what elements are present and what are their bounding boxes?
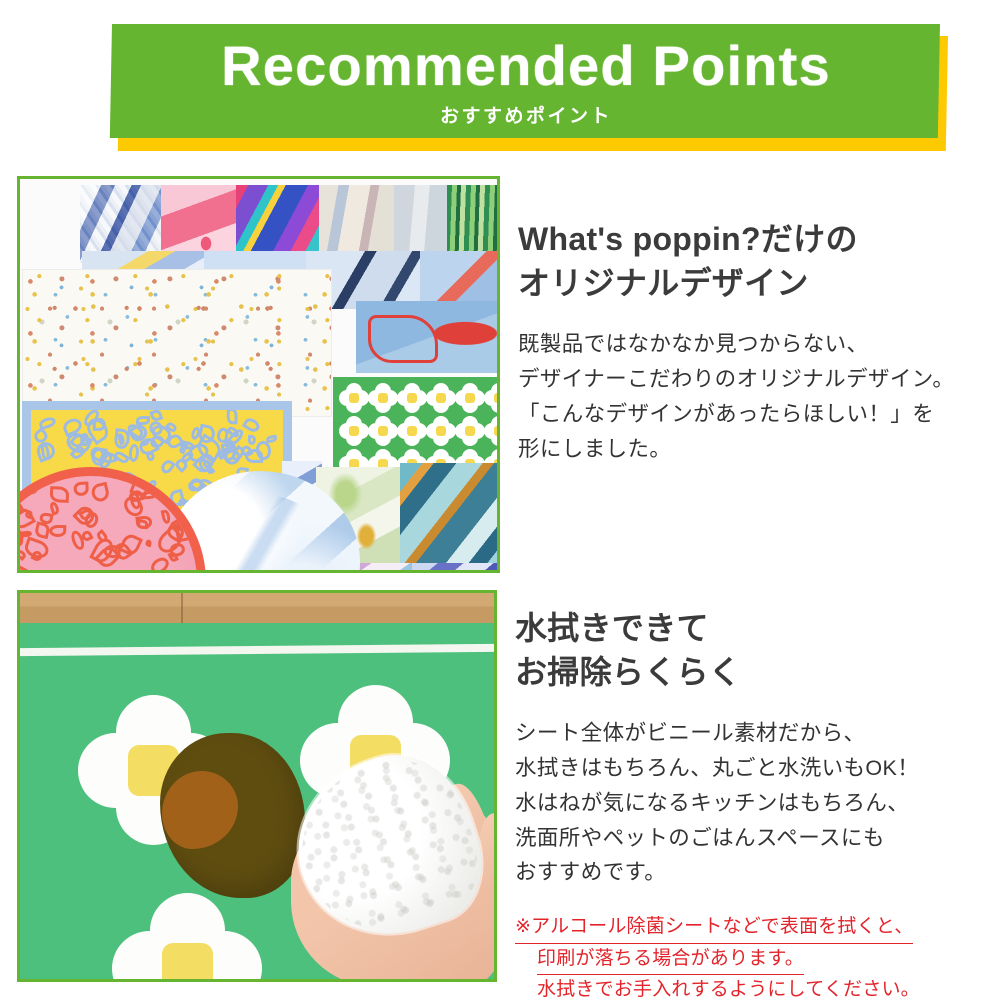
banner-subtitle: おすすめポイント: [440, 107, 612, 126]
design-heading: What's poppin?だけの オリジナルデザイン: [518, 218, 988, 305]
mat-top-edge: [20, 644, 494, 656]
flower-motif: [397, 416, 427, 446]
cleaning-heading-line1: 水拭きできて: [515, 607, 995, 651]
squiggle-motif: [38, 416, 57, 431]
cleaning-body-line-4: 洗面所やペットのごはんスペースにも: [515, 821, 995, 856]
section-design: What's poppin?だけの オリジナルデザイン 既製品ではなかなか見つか…: [0, 170, 1000, 580]
design-collage-photo: [17, 176, 500, 573]
wood-floor: [20, 593, 494, 623]
flower-motif: [397, 383, 427, 413]
sheet-green-flower: [333, 377, 497, 473]
design-text-block: What's poppin?だけの オリジナルデザイン 既製品ではなかなか見つか…: [518, 218, 988, 466]
design-body-line-1: 既製品ではなかなか見つからない、: [518, 327, 988, 362]
header-banner: Recommended Points おすすめポイント: [0, 0, 1000, 165]
squiggle-motif: [226, 408, 238, 425]
collage-canvas: [20, 179, 497, 570]
banner-text-group: Recommended Points おすすめポイント: [112, 24, 940, 138]
flower-motif: [455, 383, 485, 413]
squiggle-motif: [135, 515, 153, 529]
cleaning-heading: 水拭きできて お掃除らくらく: [515, 607, 995, 694]
flower-motif: [484, 383, 497, 413]
squiggle-motif: [113, 450, 130, 466]
flower-motif: [368, 416, 398, 446]
cleaning-demo-photo: [17, 590, 497, 982]
design-body-line-2: デザイナーこだわりのオリジナルデザイン。: [518, 362, 988, 397]
sheet-violet-marble: [412, 563, 497, 570]
sheet-blue-red-graphic: [356, 301, 497, 373]
page-root: Recommended Points おすすめポイント: [0, 0, 1000, 1000]
sheet-teal-marble: [400, 463, 497, 563]
caution-line-2: 印刷が落ちる場合があります。: [537, 944, 804, 975]
cleaning-caution: ※アルコール除菌シートなどで表面を拭くと、 印刷が落ちる場合があります。 水拭き…: [515, 912, 995, 1000]
design-body-line-3: 「こんなデザインがあったらほしい！」を: [518, 397, 988, 432]
squiggle-motif: [73, 482, 88, 497]
cleaning-body-line-1: シート全体がビニール素材だから、: [515, 716, 995, 751]
section-cleaning: 水拭きできて お掃除らくらく シート全体がビニール素材だから、 水拭きはもちろん…: [0, 590, 1000, 990]
mat-scene: [20, 593, 494, 979]
squiggle-motif: [20, 565, 34, 570]
caution-line-3: 水拭きでお手入れするようにしてください。: [537, 975, 920, 1000]
flower-motif: [426, 383, 456, 413]
cleaning-body-line-3: 水はねが気になるキッチンはもちろん、: [515, 786, 995, 821]
flower-motif: [339, 416, 369, 446]
cleaning-body: シート全体がビニール素材だから、 水拭きはもちろん、丸ごと水洗いもOK！ 水はね…: [515, 716, 995, 890]
design-heading-line2: オリジナルデザイン: [518, 262, 988, 306]
design-body-line-4: 形にしました。: [518, 432, 988, 467]
squiggle-motif: [34, 439, 57, 462]
squiggle-motif: [159, 458, 177, 476]
design-heading-line1: What's poppin?だけの: [518, 218, 988, 262]
squiggle-motif: [90, 481, 111, 503]
squiggle-motif: [265, 434, 277, 443]
squiggle-motif: [50, 486, 70, 503]
flower-motif: [339, 383, 369, 413]
mat-flower-3: [112, 893, 262, 979]
cleaning-body-line-5: おすすめです。: [515, 855, 995, 890]
squiggle-motif: [128, 443, 139, 462]
flower-motif: [426, 416, 456, 446]
flower-motif: [484, 416, 497, 446]
flower-motif: [368, 383, 398, 413]
squiggle-motif: [145, 539, 153, 547]
caution-line-1: ※アルコール除菌シートなどで表面を拭くと、: [515, 912, 913, 943]
squiggle-motif: [247, 434, 255, 444]
sheet-terrazzo: [22, 269, 332, 417]
cleaning-text-block: 水拭きできて お掃除らくらく シート全体がビニール素材だから、 水拭きはもちろん…: [515, 607, 995, 1000]
cleaning-body-line-2: 水拭きはもちろん、丸ごと水洗いもOK！: [515, 751, 995, 786]
squiggle-motif: [161, 509, 172, 525]
design-body: 既製品ではなかなか見つからない、 デザイナーこだわりのオリジナルデザイン。 「こ…: [518, 327, 988, 466]
squiggle-motif: [136, 415, 150, 425]
banner-title: Recommended Points: [221, 38, 831, 94]
squiggle-motif: [49, 525, 66, 537]
cleaning-heading-line2: お掃除らくらく: [515, 651, 995, 695]
squiggle-motif: [242, 415, 262, 434]
flower-motif: [455, 416, 485, 446]
